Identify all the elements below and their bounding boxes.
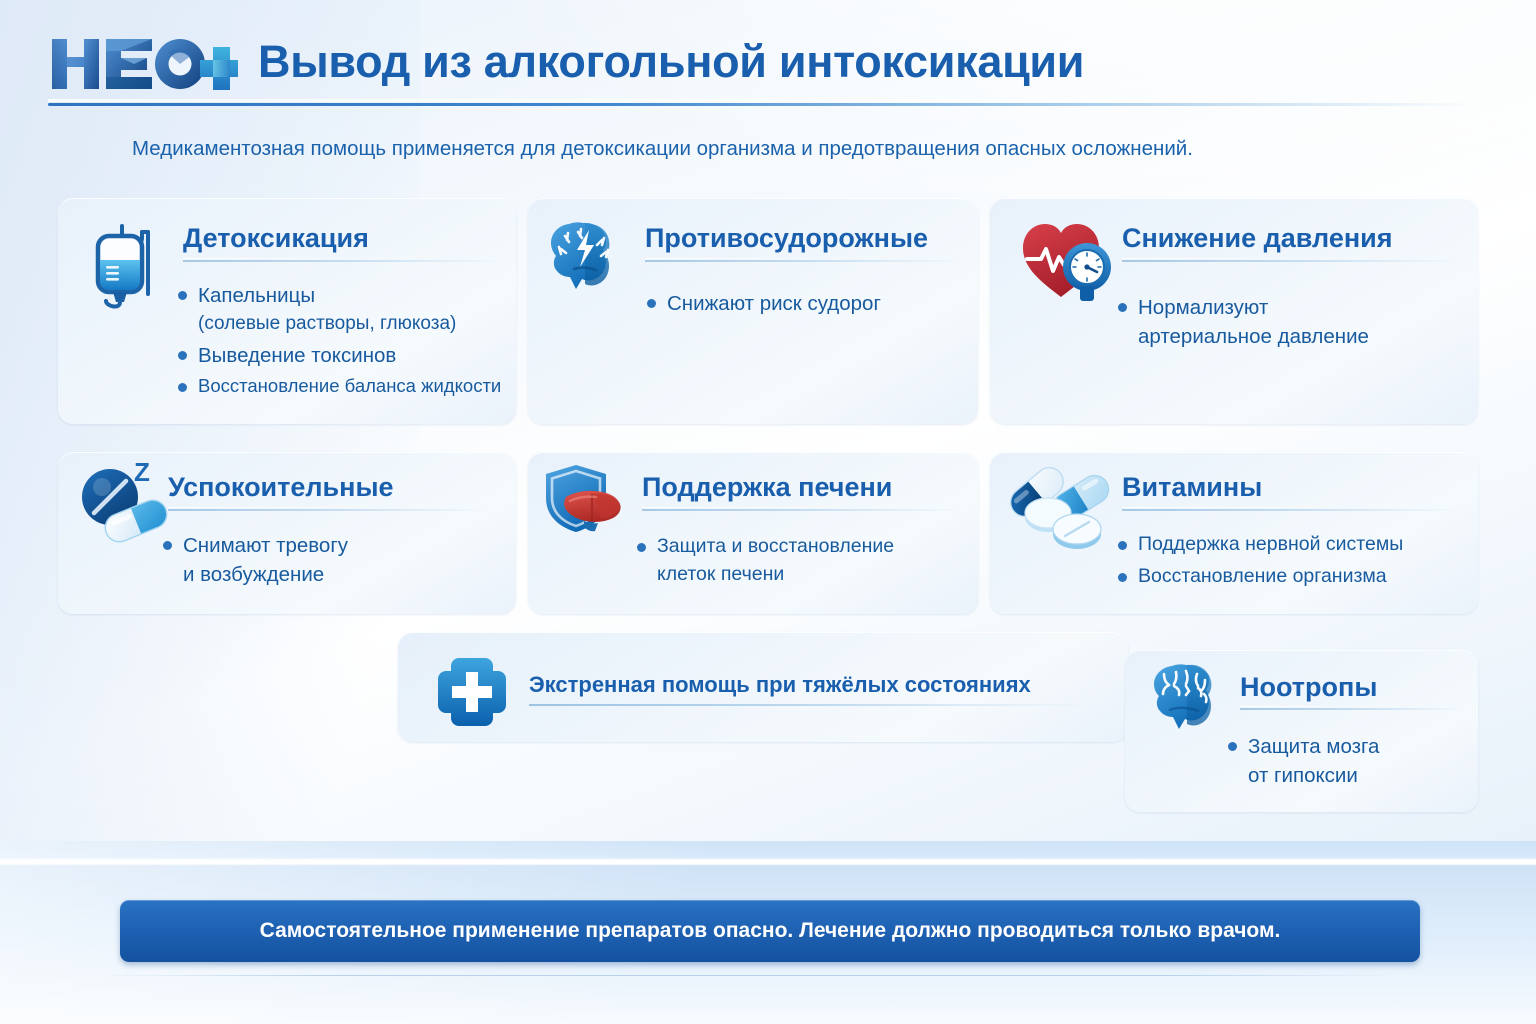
bullet-dot bbox=[178, 383, 187, 392]
shield-liver-icon bbox=[540, 457, 640, 554]
brain-icon bbox=[1148, 660, 1234, 745]
card-pressure-bullets: Нормализуют артериальное давление bbox=[1118, 294, 1458, 350]
bullet-dot bbox=[1118, 541, 1127, 550]
card-sedative-line2: и возбуждение bbox=[183, 561, 493, 588]
card-liver-bullets: Защита и восстановление клеток печени bbox=[637, 534, 967, 587]
page-title: Вывод из алкогольной интоксикации bbox=[258, 36, 1084, 88]
card-pressure-rule-hi bbox=[1122, 258, 1460, 259]
list-item-label: Поддержка нервной системы bbox=[1138, 532, 1403, 558]
infographic-root: Вывод из алкогольной интоксикации Медика… bbox=[0, 0, 1536, 1024]
list-item-label: Восстановление организма bbox=[1138, 564, 1387, 590]
list-item-label: Капельницы bbox=[198, 282, 315, 309]
card-sedative-rule bbox=[168, 509, 486, 511]
pill-sleep-icon: Z bbox=[72, 455, 172, 552]
list-item-label: Нормализуют bbox=[1138, 294, 1268, 321]
card-nootropics-bullets: Защита мозга от гипоксии bbox=[1228, 733, 1468, 789]
card-detox-title: Детоксикация bbox=[183, 223, 369, 254]
brand-logo bbox=[48, 33, 238, 93]
page-subtitle: Медикаментозная помощь применяется для д… bbox=[132, 137, 1193, 161]
list-item: Снижают риск судорог bbox=[647, 290, 957, 317]
list-item-label: Защита мозга bbox=[1248, 733, 1379, 760]
card-nootropics-rule-hi bbox=[1240, 706, 1462, 707]
card-sedative-bullets: Снимают тревогу и возбуждение bbox=[163, 532, 493, 588]
list-item: Восстановление баланса жидкости bbox=[178, 374, 508, 398]
card-liver-title: Поддержка печени bbox=[642, 472, 892, 503]
card-liver-rule bbox=[642, 509, 960, 511]
bullet-dot bbox=[1118, 573, 1127, 582]
card-sedative-title: Успокоительные bbox=[168, 472, 394, 503]
list-item-label: Защита и восстановление bbox=[657, 534, 894, 560]
bullet-dot bbox=[178, 291, 187, 300]
list-item: Защита и восстановление bbox=[637, 534, 967, 560]
list-item-label: Снимают тревогу bbox=[183, 532, 348, 559]
emergency-label: Экстренная помощь при тяжёлых состояниях bbox=[529, 672, 1031, 698]
list-item-label: Восстановление баланса жидкости bbox=[198, 374, 501, 398]
card-anticonvulsant-rule-hi bbox=[645, 258, 963, 259]
card-nootropics-line2: от гипоксии bbox=[1248, 762, 1468, 789]
card-vitamins-rule-hi bbox=[1122, 507, 1460, 508]
card-vitamins-title: Витамины bbox=[1122, 472, 1262, 503]
emergency-rule bbox=[529, 704, 1089, 706]
card-vitamins-bullets: Поддержка нервной системы Восстановление… bbox=[1118, 532, 1468, 591]
card-nootropics-title: Ноотропы bbox=[1240, 672, 1377, 703]
bullet-dot bbox=[163, 541, 172, 550]
card-nootropics-rule bbox=[1240, 708, 1462, 710]
card-liver-line2: клеток печени bbox=[657, 562, 967, 588]
card-pressure-rule bbox=[1122, 260, 1460, 262]
card-pressure-line2: артериальное давление bbox=[1138, 323, 1458, 350]
bullet-dot bbox=[178, 351, 187, 360]
card-vitamins-rule bbox=[1122, 509, 1460, 511]
warning-banner: Самостоятельное применение препаратов оп… bbox=[120, 900, 1420, 962]
card-detox-rule bbox=[183, 260, 501, 262]
card-anticonvulsant-bullets: Снижают риск судорог bbox=[647, 290, 957, 319]
brain-lightning-icon bbox=[545, 216, 637, 306]
list-item: Восстановление организма bbox=[1118, 564, 1468, 590]
card-liver-rule-hi bbox=[642, 507, 960, 508]
card-detox-rule-hi bbox=[183, 258, 501, 259]
list-item: Капельницы bbox=[178, 282, 508, 309]
card-pressure-title: Снижение давления bbox=[1122, 223, 1393, 254]
list-item: Выведение токсинов bbox=[178, 342, 508, 369]
list-item: Защита мозга bbox=[1228, 733, 1468, 760]
header: Вывод из алкогольной интоксикации bbox=[0, 0, 1536, 110]
card-anticonvulsant-rule bbox=[645, 260, 963, 262]
medical-cross-icon bbox=[432, 652, 512, 737]
warning-banner-label: Самостоятельное применение препаратов оп… bbox=[260, 919, 1281, 943]
bullet-dot bbox=[647, 299, 656, 308]
list-item-label: Выведение токсинов bbox=[198, 342, 396, 369]
heart-pressure-gauge-icon bbox=[1017, 215, 1117, 312]
bullet-dot bbox=[1228, 742, 1237, 751]
header-rule-highlight bbox=[48, 99, 1478, 102]
card-sedative-rule-hi bbox=[168, 507, 486, 508]
pills-capsules-icon bbox=[995, 458, 1115, 559]
bullet-dot bbox=[637, 543, 646, 552]
card-anticonvulsant-title: Противосудорожные bbox=[645, 223, 928, 254]
bullet-dot bbox=[1118, 303, 1127, 312]
list-item: Снимают тревогу bbox=[163, 532, 493, 559]
card-detox-bullets: Капельницы (солевые растворы, глюкоза) В… bbox=[178, 282, 508, 401]
list-item-label: Снижают риск судорог bbox=[667, 290, 881, 317]
header-rule bbox=[48, 103, 1478, 106]
iv-drip-icon bbox=[80, 216, 180, 321]
card-detox-subnote: (солевые растворы, глюкоза) bbox=[198, 311, 508, 336]
footer-divider-line bbox=[95, 975, 1395, 976]
svg-text:Z: Z bbox=[134, 457, 150, 487]
list-item: Нормализуют bbox=[1118, 294, 1458, 321]
list-item: Поддержка нервной системы bbox=[1118, 532, 1468, 558]
